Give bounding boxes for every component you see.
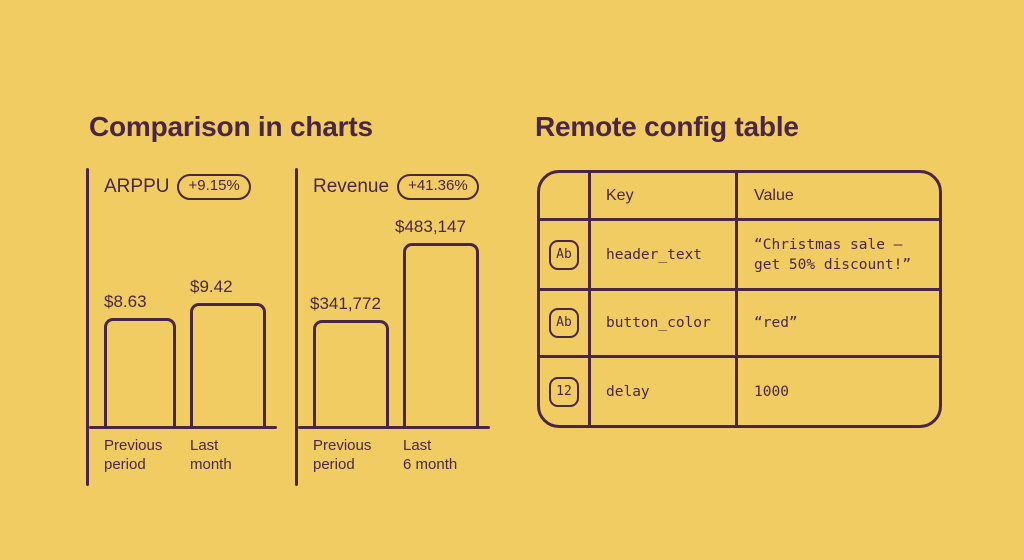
chart-revenue-delta-badge: +41.36% [397,174,479,200]
row-type-cell: Ab [540,291,591,355]
header-cell-icon [540,173,591,218]
row-value-cell: 1000 [738,358,939,425]
remote-config-table: Key Value Ab header_text “Christmas sale… [537,170,942,428]
row-value-text: “Christmas sale — get 50% discount!” [754,235,911,275]
row-type-cell: 12 [540,358,591,425]
bar [190,303,266,429]
table-header-row: Key Value [540,173,939,221]
row-key-cell: delay [591,358,738,425]
canvas: Comparison in charts ARPPU +9.15% $8.63 … [0,0,1024,560]
bar-category-label: Previous period [104,436,162,474]
header-cell-key: Key [591,173,738,218]
chart-arppu: ARPPU +9.15% $8.63 $9.42 Previous period… [86,168,286,486]
chart-arppu-header: ARPPU +9.15% [104,174,251,200]
number-type-icon: 12 [549,377,579,407]
bar-value-label: $9.42 [190,277,233,297]
bar-value-label: $341,772 [310,294,381,314]
bar-value-label: $483,147 [395,217,466,237]
row-value-text: 1000 [754,382,789,402]
bar-category-label: Last 6 month [403,436,457,474]
y-axis-line [295,168,298,486]
y-axis-line [86,168,89,486]
chart-arppu-delta-badge: +9.15% [177,174,250,200]
header-label-key: Key [606,186,634,206]
row-value-cell: “Christmas sale — get 50% discount!” [738,221,939,288]
row-value-cell: “red” [738,291,939,355]
table-section-title: Remote config table [535,110,799,144]
row-value-text: “red” [754,313,798,333]
row-key-text: button_color [606,313,711,333]
charts-section-title: Comparison in charts [89,110,373,144]
header-cell-value: Value [738,173,939,218]
row-key-cell: button_color [591,291,738,355]
bar [403,243,479,429]
chart-revenue: Revenue +41.36% $341,772 $483,147 Previo… [295,168,495,486]
chart-revenue-name: Revenue [313,176,389,198]
row-key-text: delay [606,382,650,402]
row-key-text: header_text [606,245,702,265]
row-type-cell: Ab [540,221,591,288]
chart-revenue-header: Revenue +41.36% [313,174,479,200]
header-label-value: Value [754,186,794,206]
text-type-icon: Ab [549,308,579,338]
bar-category-label: Last month [190,436,232,474]
bar [313,320,389,429]
chart-arppu-name: ARPPU [104,176,169,198]
bar-category-label: Previous period [313,436,371,474]
bar-value-label: $8.63 [104,292,147,312]
text-type-icon: Ab [549,240,579,270]
table-row[interactable]: Ab header_text “Christmas sale — get 50%… [540,221,939,291]
bar [104,318,176,429]
table-row[interactable]: Ab button_color “red” [540,291,939,358]
table-row[interactable]: 12 delay 1000 [540,358,939,425]
row-key-cell: header_text [591,221,738,288]
